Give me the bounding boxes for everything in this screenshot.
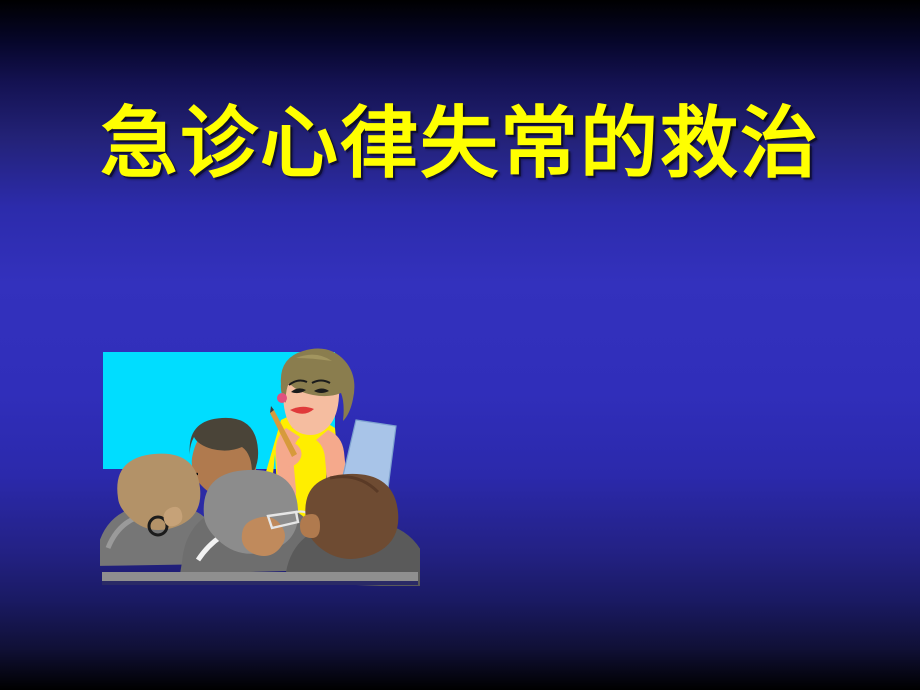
presentation-clipart-svg [100,348,420,586]
baseboard-shadow [102,581,418,585]
audience-ear-brown [300,514,320,538]
page-title: 急诊心律失常的救治 [100,104,820,186]
title-block: 急诊心律失常的救治 [0,104,920,186]
presentation-clipart [100,348,420,586]
slide-canvas: 急诊心律失常的救治 [0,0,920,690]
presenter-earring-icon [277,393,287,403]
audience-head-brown [305,474,398,559]
